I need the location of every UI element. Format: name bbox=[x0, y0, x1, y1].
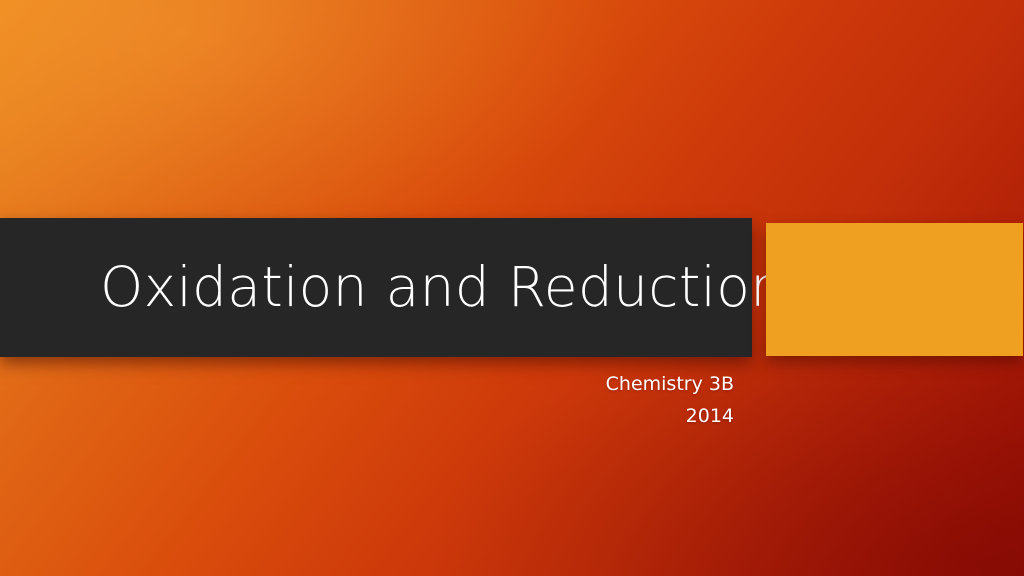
title-slide: Oxidation and Reduction Chemistry 3B 201… bbox=[0, 0, 1024, 576]
title-banner: Oxidation and Reduction bbox=[0, 218, 752, 357]
slide-title: Oxidation and Reduction bbox=[100, 260, 785, 315]
subtitle-line-year: 2014 bbox=[300, 400, 734, 432]
accent-block bbox=[766, 223, 1023, 356]
slide-subtitle: Chemistry 3B 2014 bbox=[300, 368, 734, 432]
subtitle-line-course: Chemistry 3B bbox=[300, 368, 734, 400]
